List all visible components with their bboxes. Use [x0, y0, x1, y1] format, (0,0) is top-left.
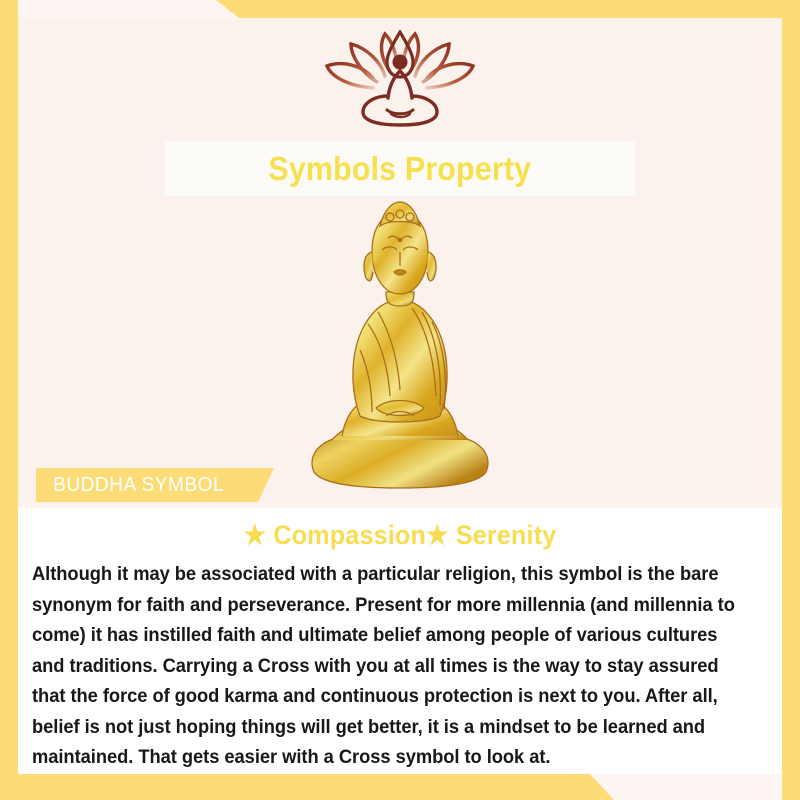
brand-logo: BUDDHA STONES: [18, 30, 782, 157]
hero-panel: BUDDHA STONES Symbols Property: [18, 18, 782, 506]
frame-border-bottom: [0, 774, 800, 800]
poster-root: BUDDHA STONES Symbols Property: [0, 0, 800, 800]
page-title: Symbols Property: [269, 150, 532, 188]
buddha-symbol-ribbon: BUDDHA SYMBOL: [36, 468, 274, 502]
page-title-strip: Symbols Property: [165, 141, 635, 196]
body-paragraph: Although it may be associated with a par…: [32, 560, 735, 774]
content-panel: ★ Compassion★ Serenity Although it may b…: [18, 508, 782, 774]
ribbon-label: BUDDHA SYMBOL: [36, 474, 224, 497]
attributes-heading: ★ Compassion★ Serenity: [58, 520, 742, 551]
frame-border-top: [0, 0, 800, 18]
lotus-meditation-icon: [18, 30, 782, 133]
frame-border-left: [0, 0, 18, 800]
buddha-statue-image: [18, 200, 782, 497]
frame-border-right: [782, 0, 800, 800]
